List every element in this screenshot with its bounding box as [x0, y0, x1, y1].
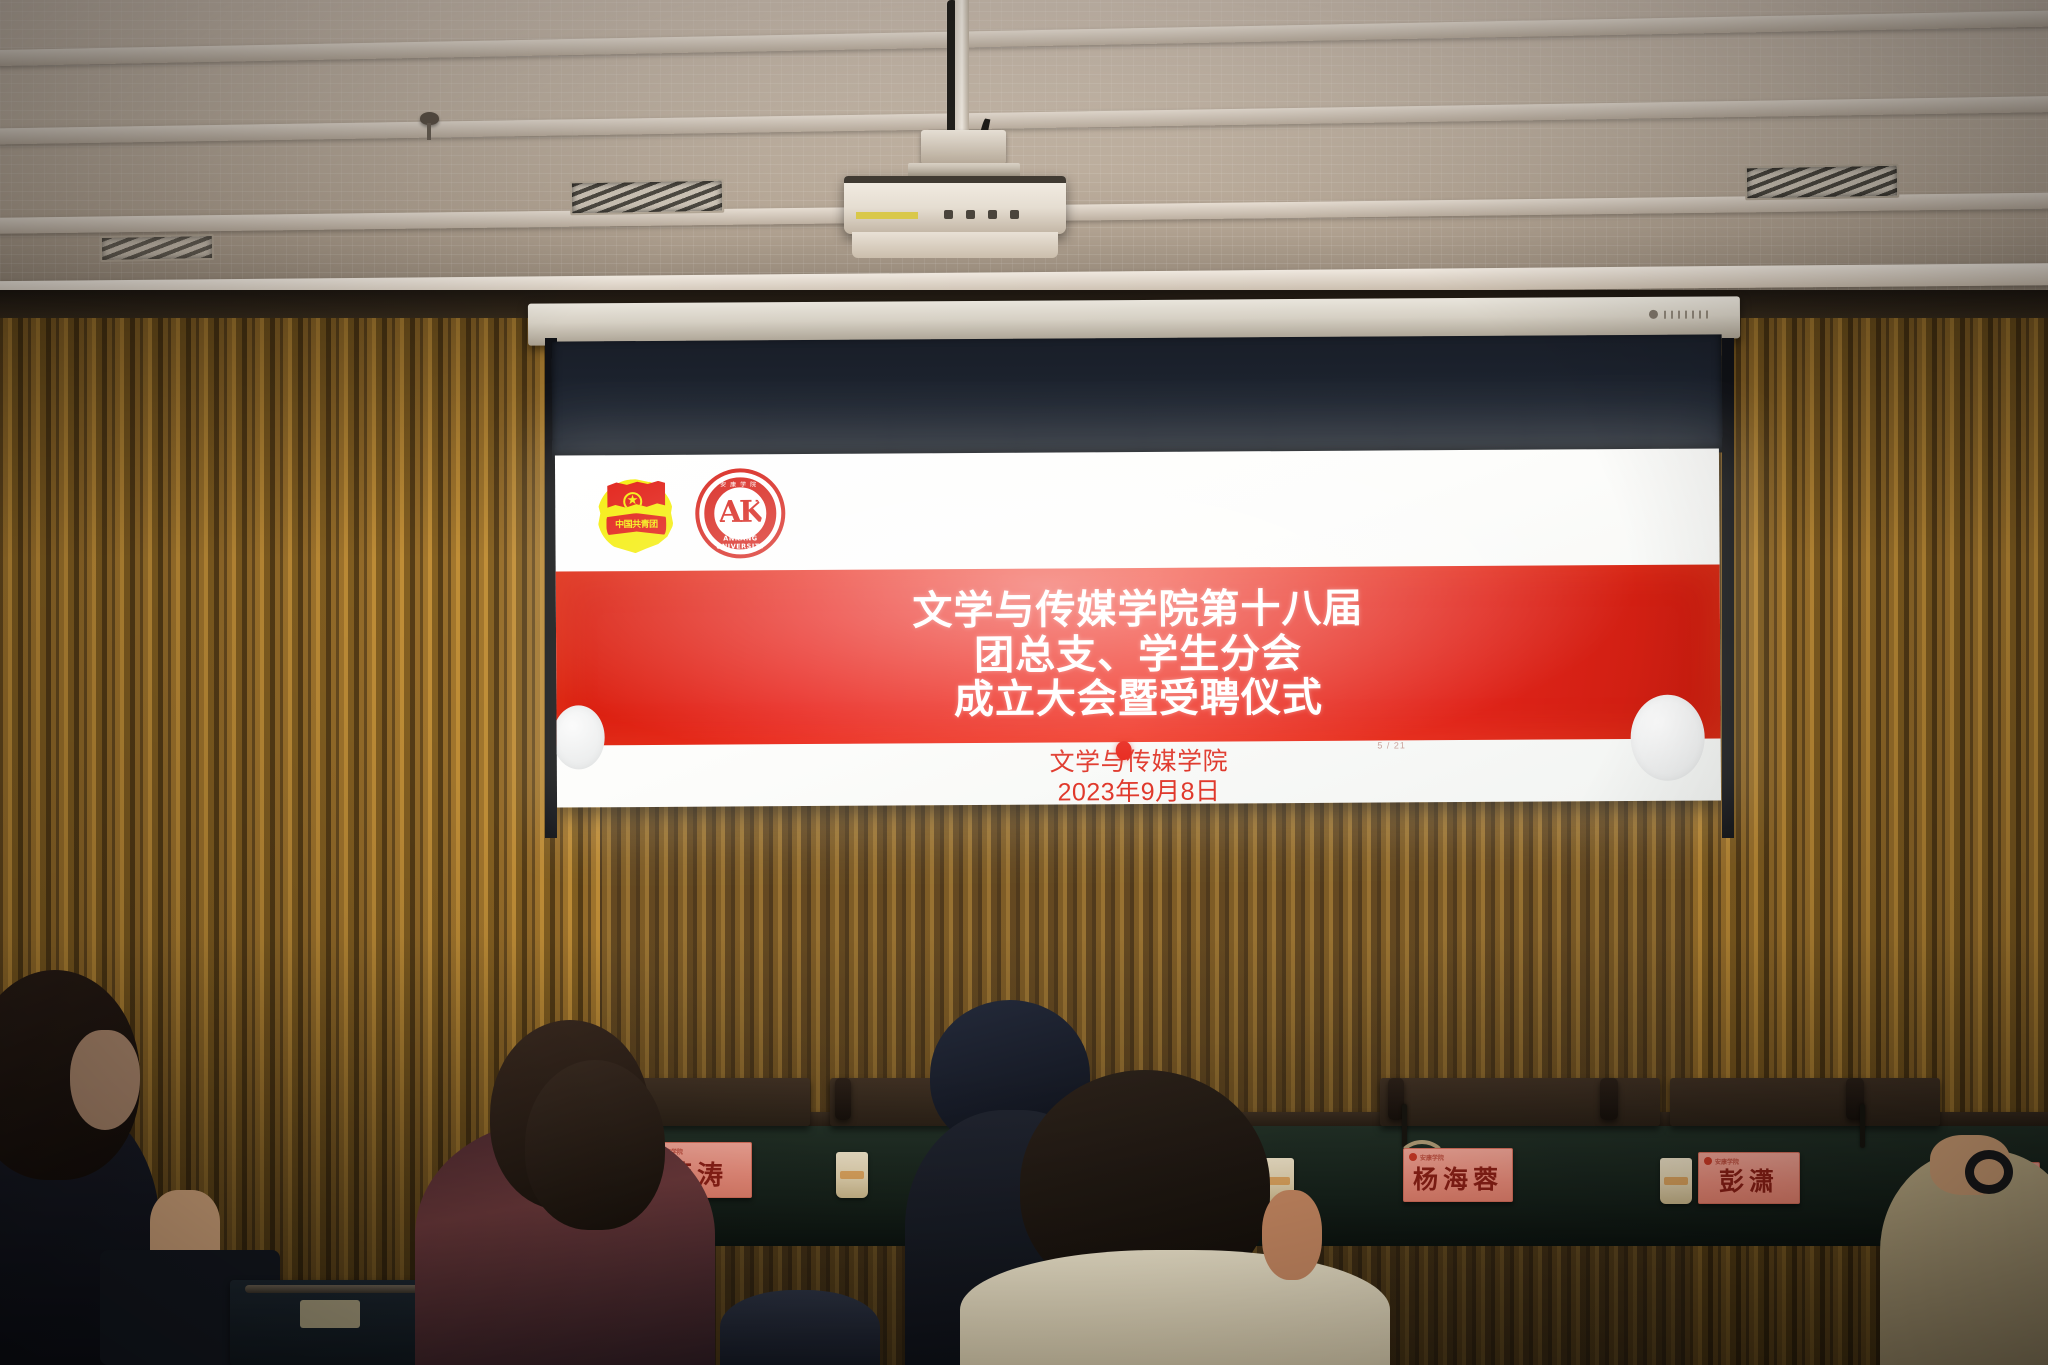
- nameplate-name: 彭潇: [1719, 1162, 1779, 1203]
- desk-segment: [1670, 1078, 1940, 1126]
- nameplate-name: 杨海蓉: [1413, 1160, 1503, 1201]
- communist-youth-league-emblem-icon: 中国共青团: [595, 473, 677, 555]
- seal-inner-field: AK: [718, 491, 762, 535]
- ankang-university-seal-icon: 安康学院 ANKANG UNIVERSITY AK: [695, 468, 786, 559]
- slide-title-line-2: 团总支、学生分会: [974, 632, 1302, 679]
- smoke-detector-icon: [420, 112, 439, 125]
- desk-segment: [1380, 1078, 1660, 1126]
- projection-screen-masking: [552, 334, 1723, 459]
- slide-title-band: 文学与传媒学院第十八届 团总支、学生分会 成立大会暨受聘仪式: [556, 564, 1721, 745]
- seat-placard: [300, 1300, 360, 1328]
- screen-status-led-icon: [1649, 310, 1658, 319]
- paper-cup: [1660, 1158, 1692, 1204]
- audience-person-ear-neck: [1262, 1190, 1322, 1280]
- paper-cup: [836, 1152, 868, 1198]
- nameplate-logo-icon: [1409, 1153, 1417, 1161]
- projector-mount-pole: [955, 0, 969, 148]
- slide-page-indicator: 5 / 21: [1377, 740, 1406, 750]
- nameplate-logo-text: 安康学院: [1715, 1157, 1739, 1166]
- audience-person-body: [720, 1290, 880, 1365]
- seal-english-text: ANKANG UNIVERSITY: [699, 534, 781, 551]
- projector-ceiling-bracket: [921, 130, 1006, 164]
- chair-back: [1600, 1078, 1618, 1120]
- seal-monogram: AK: [719, 495, 763, 530]
- slide-logo-row: 中国共青团 安康学院 ANKANG UNIVERSITY AK: [595, 468, 786, 559]
- projected-slide: 中国共青团 安康学院 ANKANG UNIVERSITY AK 文学与传媒学院第…: [555, 448, 1721, 807]
- audience-person-body: [960, 1250, 1390, 1365]
- chair-back: [835, 1078, 851, 1120]
- ceiling: [0, 0, 2048, 300]
- ceiling-air-vent: [570, 179, 725, 216]
- lecture-hall-photo: 中国共青团 安康学院 ANKANG UNIVERSITY AK 文学与传媒学院第…: [0, 0, 2048, 1365]
- slide-subtitle-block: 文学与传媒学院 2023年9月8日: [557, 744, 1721, 807]
- audience-person-head: [525, 1060, 665, 1230]
- projector-port: [966, 210, 975, 219]
- slide-title-line-1: 文学与传媒学院第十八届: [912, 586, 1363, 634]
- cyl-ribbon-text: 中国共青团: [606, 517, 666, 530]
- nameplate-logo-icon: [1704, 1157, 1712, 1165]
- projector-port: [988, 210, 997, 219]
- projector-port: [944, 210, 953, 219]
- slide-title-line-3: 成立大会暨受聘仪式: [954, 676, 1323, 723]
- ceiling-projector: [844, 176, 1066, 234]
- slide-red-dot-marker: [1115, 741, 1131, 760]
- seal-chinese-text: 安康学院: [699, 479, 781, 489]
- projector-port: [1010, 210, 1019, 219]
- nameplate-3: 安康学院 彭潇: [1698, 1152, 1800, 1204]
- nameplate-logo-text: 安康学院: [1420, 1153, 1444, 1162]
- nameplate-2: 安康学院 杨海蓉: [1403, 1148, 1513, 1202]
- slide-decorative-circle-right: [1630, 695, 1705, 781]
- desk-microphone: [1402, 1104, 1407, 1148]
- screen-edge-right: [1722, 338, 1734, 838]
- projector-lower-shell: [852, 232, 1058, 258]
- projector-sticker: [856, 212, 918, 219]
- screen-housing-vents: [1664, 310, 1710, 318]
- wristwatch-band-icon: [1965, 1150, 2013, 1194]
- desk-microphone: [1860, 1104, 1865, 1148]
- audience-person-face: [70, 1030, 140, 1130]
- ceiling-air-vent: [1745, 164, 1900, 201]
- ceiling-air-vent: [100, 234, 214, 262]
